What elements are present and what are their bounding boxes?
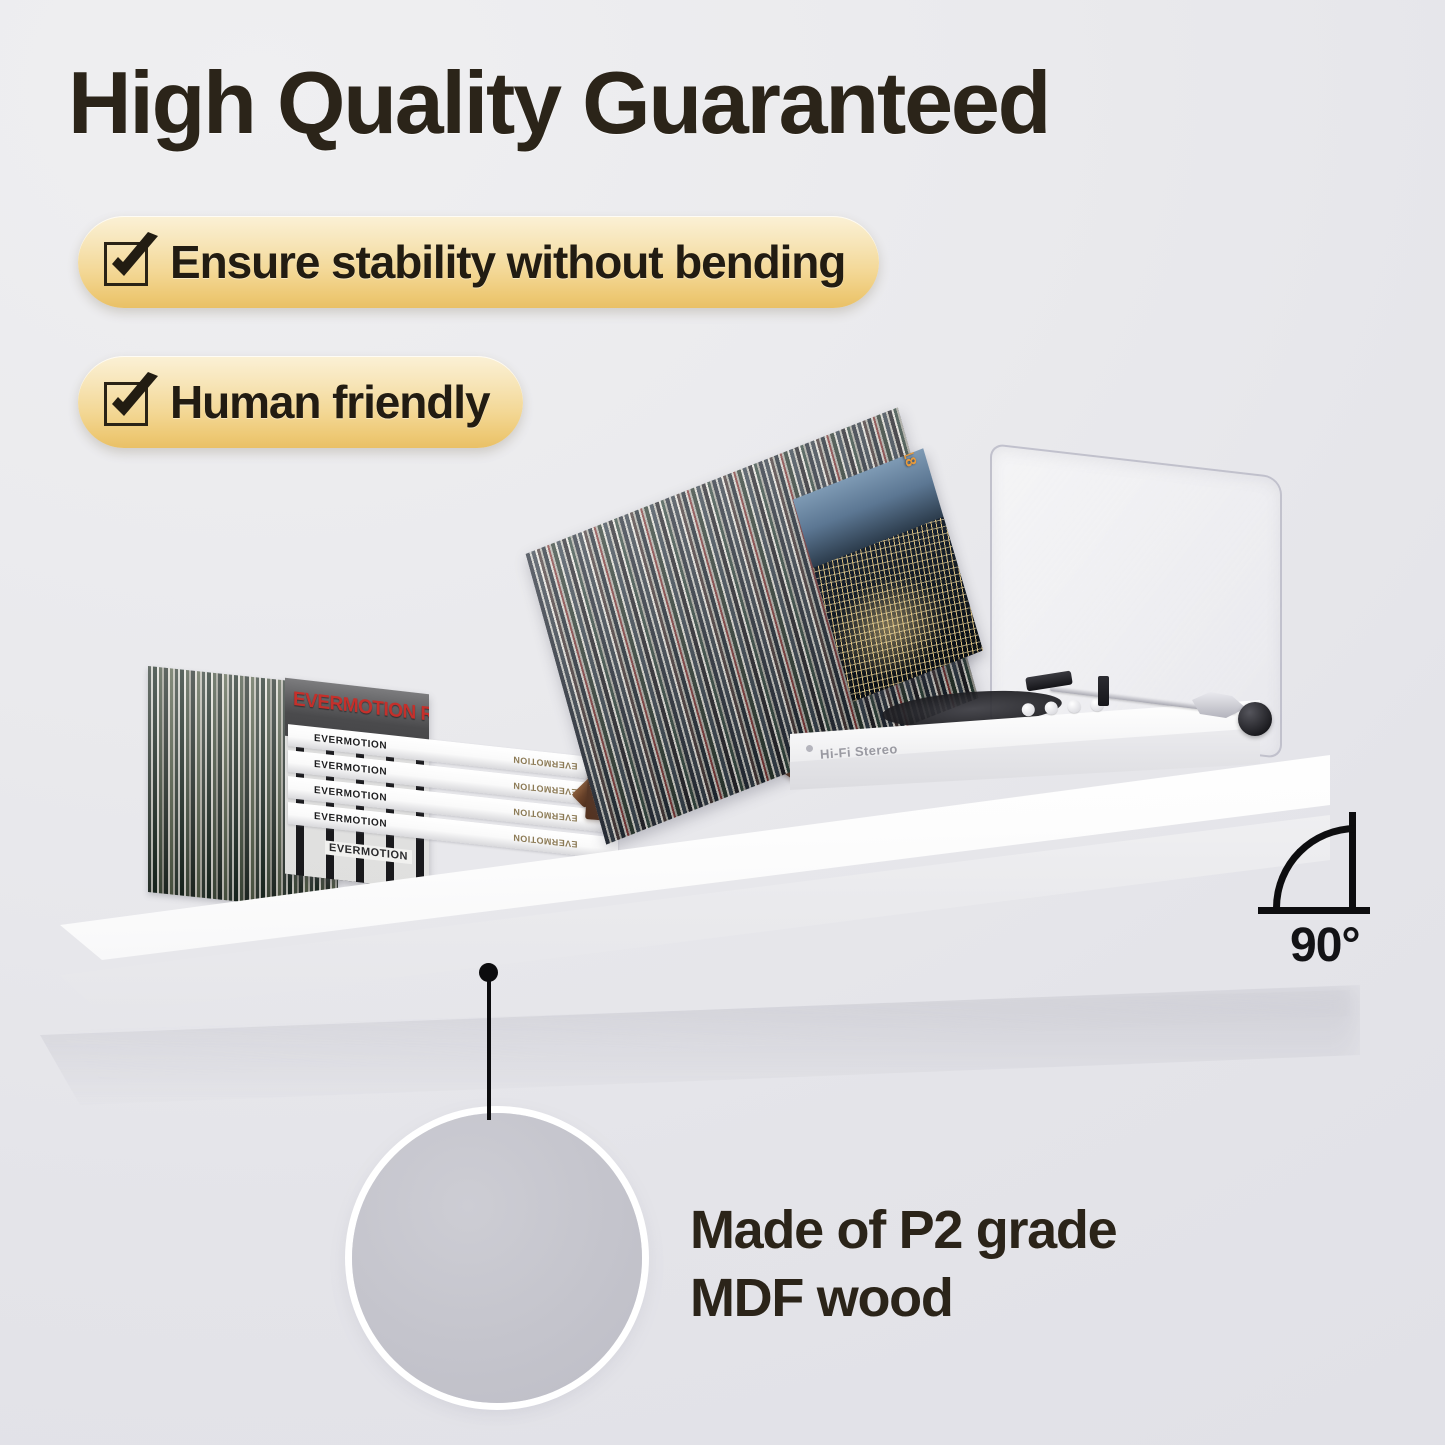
album-title-evermotion: EVERMOTION RECORDS: [293, 688, 425, 726]
callout-anchor-dot: [479, 963, 498, 982]
tonearm-counterweight: [1238, 702, 1272, 736]
material-callout-line-2: MDF wood: [690, 1264, 1116, 1332]
magazine-spine-label: EVERMOTION: [314, 811, 387, 830]
right-angle-icon: [1258, 812, 1370, 914]
callout-leader-line: [487, 978, 491, 1120]
feature-badge-stability[interactable]: Ensure stability without bending: [78, 216, 879, 308]
material-callout-line-1: Made of P2 grade: [690, 1196, 1116, 1264]
turntable-tonearm: [1020, 650, 1290, 760]
tonearm-pivot: [1098, 676, 1109, 706]
feature-badge-human-friendly[interactable]: Human friendly: [78, 356, 523, 448]
magazine-spine-label: EVERMOTION: [314, 759, 387, 778]
page-title: High Quality Guaranteed: [68, 58, 1049, 148]
material-callout-text: Made of P2 grade MDF wood: [690, 1196, 1116, 1332]
magazine-spine-label: EVERMOTION: [314, 733, 387, 752]
angle-horizontal-line: [1258, 907, 1370, 914]
material-swatch-circle: [352, 1113, 642, 1403]
checkbox-checked-icon: [102, 236, 154, 288]
feature-badge-label: Human friendly: [170, 375, 489, 429]
infographic-canvas: EVERMOTION RECORDS EVERMOTION EVERMOTION…: [0, 0, 1445, 1445]
angle-value-label: 90°: [1290, 918, 1360, 973]
checkbox-checked-icon: [102, 376, 154, 428]
magazine-spine-label: EVERMOTION: [314, 785, 387, 804]
feature-badge-label: Ensure stability without bending: [170, 235, 845, 289]
angle-arc: [1273, 825, 1356, 908]
